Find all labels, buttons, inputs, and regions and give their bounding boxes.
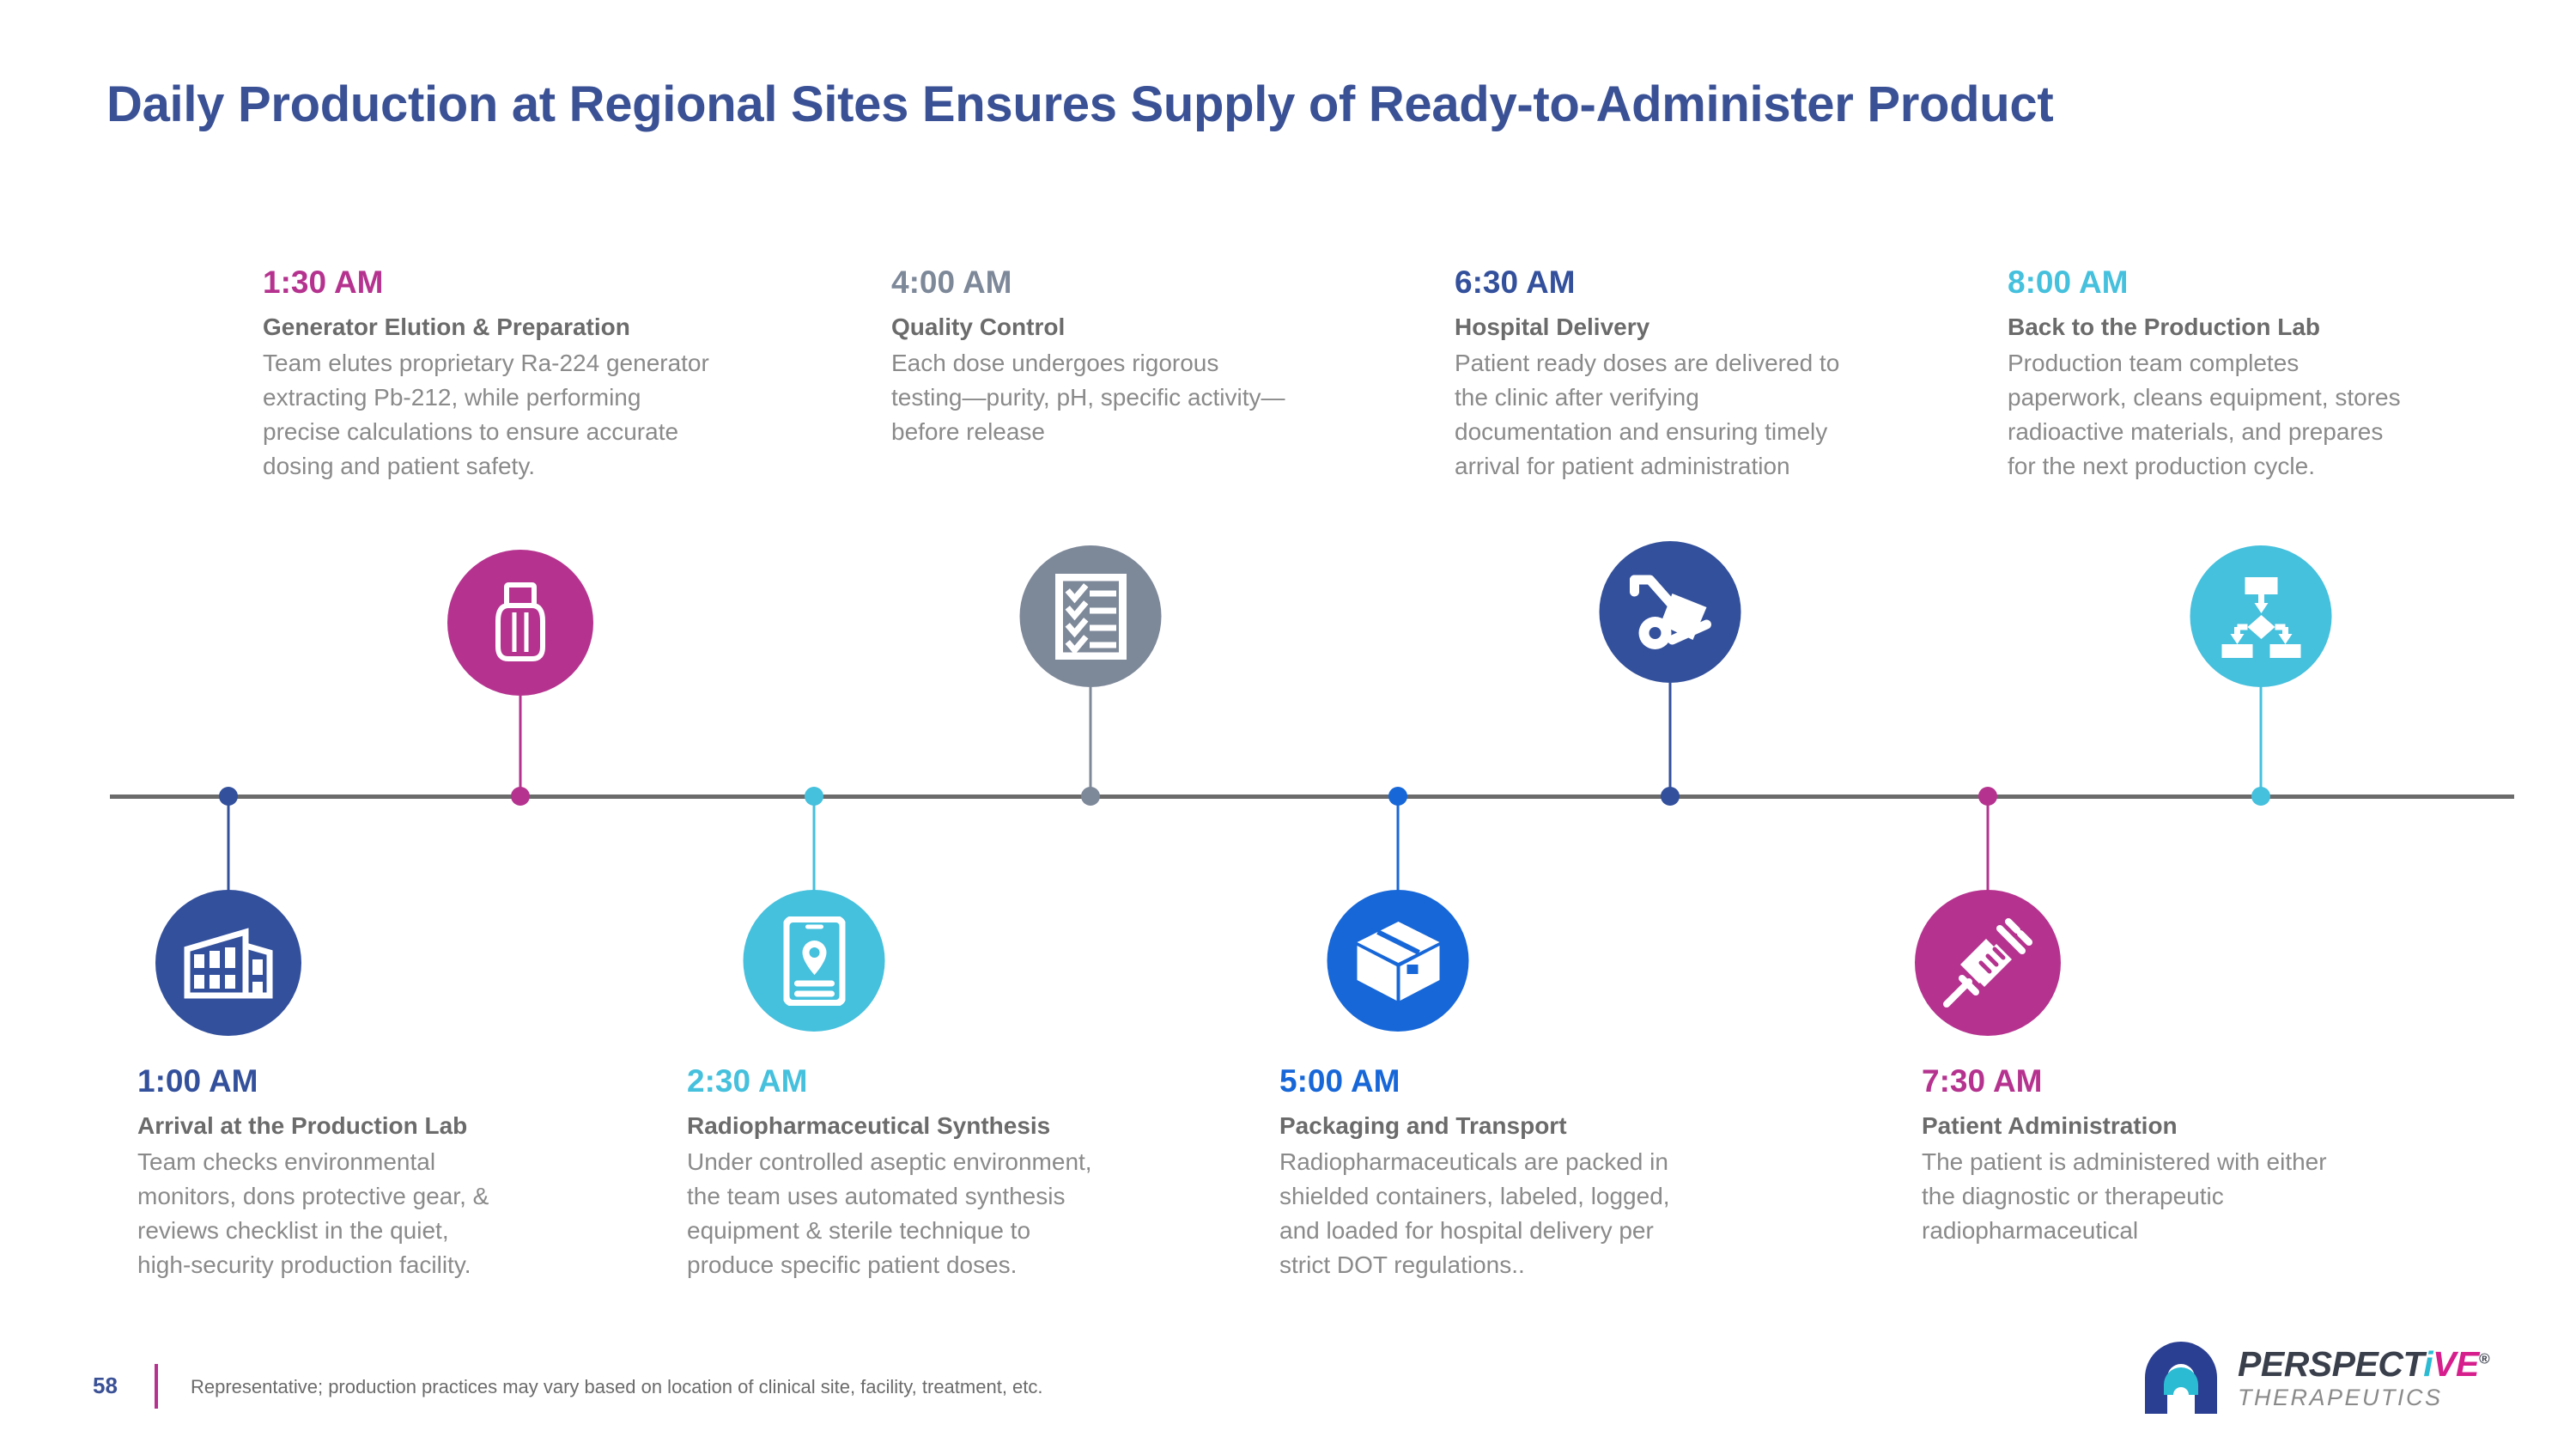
stem-below-2 bbox=[1397, 799, 1400, 892]
icon-bubble-checklist[interactable] bbox=[1020, 545, 1162, 687]
entry-time: 2:30 AM bbox=[687, 1065, 1279, 1099]
entry-time: 8:00 AM bbox=[2008, 266, 2557, 300]
mobile-location-icon bbox=[783, 916, 845, 1006]
vial-icon bbox=[487, 581, 554, 664]
timeline-entry-below-2: 5:00 AM Packaging and Transport Radiopha… bbox=[1279, 1065, 1863, 1282]
workflow-icon bbox=[2218, 575, 2304, 658]
timeline-entry-below-0: 1:00 AM Arrival at the Production Lab Te… bbox=[137, 1065, 704, 1282]
entry-heading: Back to the Production Lab bbox=[2008, 312, 2557, 343]
entry-heading: Quality Control bbox=[891, 312, 1458, 343]
company-logo: PERSPECTiVE® THERAPEUTICS bbox=[2140, 1336, 2489, 1419]
axis-dot-4-00am[interactable] bbox=[1081, 787, 1100, 806]
building-icon bbox=[184, 927, 273, 999]
icon-bubble-hand-truck[interactable] bbox=[1600, 541, 1741, 683]
entry-time: 5:00 AM bbox=[1279, 1065, 1863, 1099]
logo-wordmark: PERSPECTiVE® THERAPEUTICS bbox=[2238, 1347, 2489, 1409]
slide-canvas: Daily Production at Regional Sites Ensur… bbox=[0, 0, 2576, 1449]
entry-heading: Hospital Delivery bbox=[1455, 312, 2004, 343]
syringe-icon bbox=[1943, 918, 2032, 1008]
entry-time: 6:30 AM bbox=[1455, 266, 2004, 300]
axis-dot-8-00am[interactable] bbox=[2251, 787, 2270, 806]
entry-heading: Packaging and Transport bbox=[1279, 1111, 1863, 1142]
entry-heading: Arrival at the Production Lab bbox=[137, 1111, 704, 1142]
package-box-icon bbox=[1353, 918, 1443, 1004]
icon-bubble-workflow[interactable] bbox=[2190, 545, 2332, 687]
entry-description: Patient ready doses are delivered to the… bbox=[1455, 346, 2004, 484]
entry-description: Each dose undergoes rigorous testing—pur… bbox=[891, 346, 1458, 449]
perspective-arch-icon bbox=[2140, 1336, 2222, 1419]
timeline-entry-above-3: 8:00 AM Back to the Production Lab Produ… bbox=[2008, 266, 2557, 484]
entry-description: Under controlled aseptic environment, th… bbox=[687, 1145, 1279, 1282]
icon-bubble-building[interactable] bbox=[155, 890, 301, 1036]
stem-above-3 bbox=[2260, 687, 2263, 796]
icon-bubble-mobile-location[interactable] bbox=[744, 890, 885, 1032]
logo-brand-i: i bbox=[2423, 1344, 2433, 1384]
entry-description: Production team completes paperwork, cle… bbox=[2008, 346, 2557, 484]
entry-heading: Patient Administration bbox=[1922, 1111, 2506, 1142]
stem-below-0 bbox=[228, 799, 230, 892]
page-title: Daily Production at Regional Sites Ensur… bbox=[106, 76, 2053, 133]
entry-description: Team elutes proprietary Ra-224 generator… bbox=[263, 346, 855, 484]
logo-brand-ve: VE bbox=[2433, 1344, 2479, 1384]
entry-heading: Radiopharmaceutical Synthesis bbox=[687, 1111, 1279, 1142]
axis-dot-6-30am[interactable] bbox=[1661, 787, 1680, 806]
stem-below-1 bbox=[813, 799, 816, 892]
timeline-entry-above-1: 4:00 AM Quality Control Each dose underg… bbox=[891, 266, 1458, 449]
entry-description: Radiopharmaceuticals are packed in shiel… bbox=[1279, 1145, 1863, 1282]
logo-brand-name: PERSPECTiVE® bbox=[2238, 1347, 2489, 1382]
timeline-entry-above-0: 1:30 AM Generator Elution & Preparation … bbox=[263, 266, 855, 484]
icon-bubble-package[interactable] bbox=[1327, 890, 1469, 1032]
entry-time: 1:30 AM bbox=[263, 266, 855, 300]
stem-above-2 bbox=[1669, 683, 1672, 796]
logo-subtitle: THERAPEUTICS bbox=[2238, 1386, 2489, 1409]
entry-time: 4:00 AM bbox=[891, 266, 1458, 300]
footer-divider bbox=[155, 1364, 158, 1409]
timeline-entry-above-2: 6:30 AM Hospital Delivery Patient ready … bbox=[1455, 266, 2004, 484]
stem-below-3 bbox=[1987, 799, 1990, 892]
hand-truck-icon bbox=[1627, 571, 1713, 654]
icon-bubble-vial[interactable] bbox=[447, 550, 593, 696]
axis-dot-1-30am[interactable] bbox=[511, 787, 530, 806]
page-number: 58 bbox=[93, 1373, 118, 1399]
entry-description: The patient is administered with either … bbox=[1922, 1145, 2506, 1248]
checklist-icon bbox=[1054, 574, 1127, 660]
timeline-entry-below-3: 7:30 AM Patient Administration The patie… bbox=[1922, 1065, 2506, 1248]
entry-time: 7:30 AM bbox=[1922, 1065, 2506, 1099]
footnote: Representative; production practices may… bbox=[191, 1376, 1043, 1398]
timeline-entry-below-1: 2:30 AM Radiopharmaceutical Synthesis Un… bbox=[687, 1065, 1279, 1282]
stem-above-0 bbox=[519, 696, 522, 796]
stem-above-1 bbox=[1090, 687, 1092, 796]
icon-bubble-syringe[interactable] bbox=[1915, 890, 2061, 1036]
logo-brand-persp: PERSPECT bbox=[2238, 1344, 2423, 1384]
entry-time: 1:00 AM bbox=[137, 1065, 704, 1099]
timeline-axis bbox=[110, 795, 2514, 799]
entry-heading: Generator Elution & Preparation bbox=[263, 312, 855, 343]
logo-registered-mark: ® bbox=[2479, 1350, 2489, 1367]
entry-description: Team checks environmental monitors, dons… bbox=[137, 1145, 704, 1282]
